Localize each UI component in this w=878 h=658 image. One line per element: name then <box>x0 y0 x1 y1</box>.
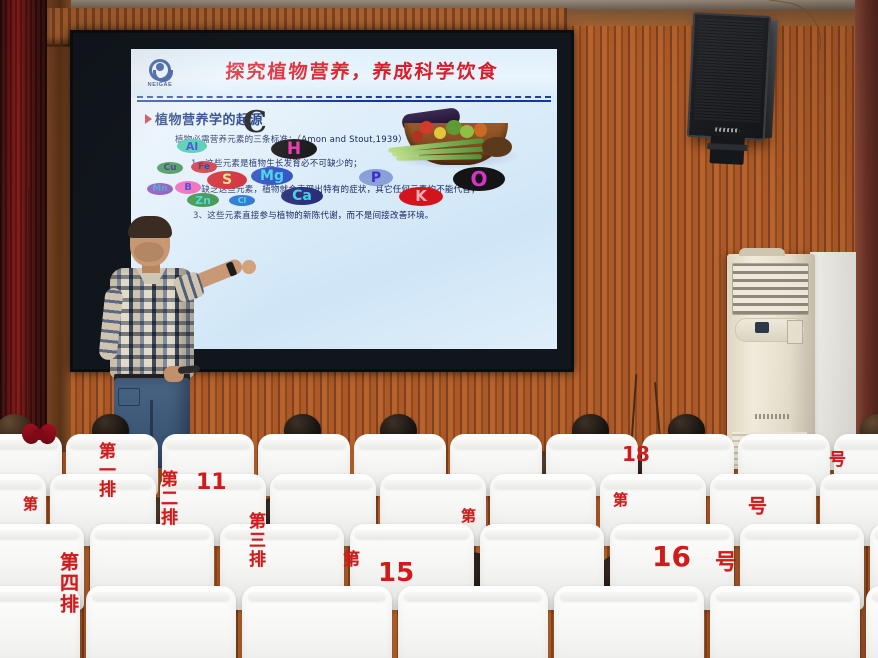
presenter-right-hand <box>242 260 256 274</box>
seat-row-label: 第一排 <box>96 442 113 499</box>
ac-air-grille <box>732 263 809 315</box>
seat-row-label: 第三排 <box>246 512 263 569</box>
presenter-face-shadow <box>134 242 164 262</box>
logo-text: NEIGAE <box>148 82 173 88</box>
seat-row-label: 号 <box>746 496 765 517</box>
element-bubble-K: K <box>399 187 443 206</box>
seat-cover[interactable] <box>710 586 860 658</box>
seat-number: 15 <box>378 558 414 588</box>
element-bubble-H: H <box>271 139 317 159</box>
seat-row-label: 第 <box>22 496 37 513</box>
element-bubble-Fe: Fe <box>191 161 217 173</box>
hair-bow <box>22 424 56 446</box>
presenter-hair <box>128 216 172 238</box>
speaker-grille <box>694 18 765 122</box>
seat-number: 11 <box>196 470 227 495</box>
seat-cover[interactable] <box>866 586 878 658</box>
loudspeaker <box>687 12 771 141</box>
element-bubble-Cu: Cu <box>157 162 183 174</box>
seat-cover[interactable] <box>554 586 704 658</box>
seat-row-label: 第 <box>612 492 627 509</box>
seat-cover[interactable] <box>398 586 548 658</box>
element-bubble-P: P <box>359 169 393 186</box>
element-bubble-Mn: Mn <box>147 183 173 195</box>
seat-row-label: 第二排 <box>158 470 175 527</box>
element-bubble-Mg: Mg <box>251 167 293 185</box>
ac-display <box>755 322 769 333</box>
audience-seating: 第一排第二排第三排第四排第第第第号号号11151816 <box>0 400 878 658</box>
element-bubble-Ca: Ca <box>281 187 323 205</box>
slide-title: 探究植物营养，养成科学饮食 <box>186 57 538 84</box>
slide-divider-dashed <box>137 96 551 98</box>
seat-row-label: 号 <box>826 450 843 469</box>
seat-number: 16 <box>652 540 691 573</box>
handheld-microphone <box>178 365 201 374</box>
speaker-logo <box>715 127 739 132</box>
seat-number: 18 <box>622 442 650 466</box>
seat-row-label: 第四排 <box>58 552 77 615</box>
slide-divider-solid <box>137 100 551 102</box>
logo-mark-icon <box>149 59 171 81</box>
neigae-logo: NEIGAE <box>140 53 180 93</box>
element-bubble-Zn: Zn <box>187 193 219 207</box>
ac-top-cap <box>739 248 785 256</box>
element-bubble-O: O <box>453 167 505 191</box>
element-bubble-B: B <box>175 181 201 194</box>
wall-trim-column <box>47 0 71 452</box>
ac-badge <box>787 320 803 344</box>
seat-row-label: 第 <box>340 550 357 569</box>
seat-cover[interactable] <box>86 586 236 658</box>
element-bubble-S: S <box>207 171 247 189</box>
lecture-hall-photo: NEIGAE 探究植物营养，养成科学饮食 植物营养学的起源 植物必需营养元素的三… <box>0 0 878 658</box>
red-wall-panel <box>0 0 47 452</box>
seat-row-label: 号 <box>712 550 734 574</box>
speaker-mount-bracket <box>709 135 744 165</box>
element-bubble-Cl: Cl <box>229 195 255 206</box>
seat-row-label: 第 <box>460 508 475 525</box>
seat-cover[interactable] <box>242 586 392 658</box>
element-bubble-Al: Al <box>177 139 207 153</box>
speaker-cabinet <box>687 12 771 141</box>
